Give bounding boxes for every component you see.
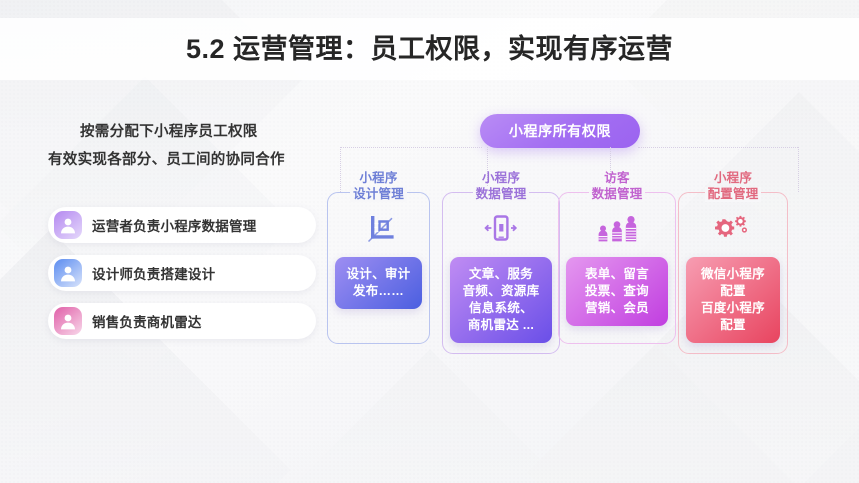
permission-column[interactable]: 小程序设计管理设计、审计发布…… — [327, 192, 430, 344]
role-list: 运营者负责小程序数据管理设计师负责搭建设计销售负责商机雷达 — [48, 207, 316, 351]
lead-line-1: 按需分配下小程序员工权限 — [48, 118, 328, 146]
root-permission-label: 小程序所有权限 — [509, 121, 611, 141]
permission-column-body-line: 商机雷达 ... — [454, 317, 548, 334]
permission-column[interactable]: 访客数据管理表单、留言投票、查询营销、会员 — [558, 192, 676, 344]
user-avatar-icon — [54, 211, 82, 239]
connector-line-horizontal-right — [638, 147, 798, 148]
lead-line-2: 有效实现各部分、员工间的协同合作 — [48, 146, 328, 174]
role-item-label: 设计师负责搭建设计 — [92, 263, 215, 283]
permission-column-header: 小程序设计管理 — [328, 171, 429, 202]
permission-column-body-line: 配置 — [690, 283, 776, 300]
permission-column-body[interactable]: 设计、审计发布…… — [335, 257, 422, 309]
permission-column-header-line: 数据管理 — [473, 187, 530, 202]
permission-column-body-line: 发布…… — [339, 283, 418, 300]
permission-column[interactable]: 小程序配置管理微信小程序配置百度小程序配置 — [678, 192, 788, 354]
role-item-label: 运营者负责小程序数据管理 — [92, 215, 256, 235]
slide-canvas: 5.2 运营管理：员工权限，实现有序运营 按需分配下小程序员工权限 有效实现各部… — [0, 0, 859, 483]
permission-column-body[interactable]: 微信小程序配置百度小程序配置 — [686, 257, 780, 343]
permission-column-header-line: 数据管理 — [589, 187, 646, 202]
permission-column-body-line: 文章、服务 — [454, 266, 548, 283]
root-permission-pill[interactable]: 小程序所有权限 — [480, 114, 640, 148]
permission-column-header-line: 小程序 — [328, 171, 429, 186]
permission-column-header-line: 设计管理 — [350, 187, 407, 202]
permission-column[interactable]: 小程序数据管理文章、服务音频、资源库信息系统、商机雷达 ... — [442, 192, 560, 354]
role-item-label: 销售负责商机雷达 — [92, 311, 202, 331]
permission-column-body-line: 信息系统、 — [454, 300, 548, 317]
permission-column-body[interactable]: 文章、服务音频、资源库信息系统、商机雷达 ... — [450, 257, 552, 343]
permission-column-header-line: 小程序 — [443, 171, 559, 186]
permission-column-body-line: 百度小程序 — [690, 300, 776, 317]
page-title: 5.2 运营管理：员工权限，实现有序运营 — [0, 20, 859, 78]
connector-line-vertical — [798, 147, 799, 192]
permission-column-frame: 小程序配置管理微信小程序配置百度小程序配置 — [678, 192, 788, 354]
user-avatar-icon — [54, 307, 82, 335]
permission-column-header: 访客数据管理 — [559, 171, 675, 202]
permission-column-body-line: 配置 — [690, 317, 776, 334]
role-item[interactable]: 销售负责商机雷达 — [48, 303, 316, 339]
permission-column-body[interactable]: 表单、留言投票、查询营销、会员 — [566, 257, 668, 326]
permission-column-header-line: 小程序 — [679, 171, 787, 186]
visitor-group-icon — [566, 209, 668, 249]
connector-line-horizontal-left — [340, 147, 482, 148]
permission-column-body-line: 微信小程序 — [690, 266, 776, 283]
permission-diagram: 小程序所有权限 小程序设计管理设计、审计发布……小程序数据管理文章、服务音频、资… — [325, 105, 835, 375]
permission-column-frame: 小程序数据管理文章、服务音频、资源库信息系统、商机雷达 ... — [442, 192, 560, 354]
lead-text-block: 按需分配下小程序员工权限 有效实现各部分、员工间的协同合作 — [48, 118, 328, 174]
permission-column-header: 小程序数据管理 — [443, 171, 559, 202]
permission-column-body-line: 音频、资源库 — [454, 283, 548, 300]
role-item[interactable]: 运营者负责小程序数据管理 — [48, 207, 316, 243]
design-ruler-icon — [335, 209, 422, 249]
permission-column-body-line: 设计、审计 — [339, 266, 418, 283]
permission-column-body-line: 营销、会员 — [570, 300, 664, 317]
permission-column-body-line: 投票、查询 — [570, 283, 664, 300]
gear-settings-icon — [686, 209, 780, 249]
permission-column-frame: 访客数据管理表单、留言投票、查询营销、会员 — [558, 192, 676, 344]
mobile-phone-icon — [450, 209, 552, 249]
permission-column-header-line: 访客 — [559, 171, 675, 186]
permission-column-header: 小程序配置管理 — [679, 171, 787, 202]
role-item[interactable]: 设计师负责搭建设计 — [48, 255, 316, 291]
permission-column-body-line: 表单、留言 — [570, 266, 664, 283]
user-avatar-icon — [54, 259, 82, 287]
permission-column-header-line: 配置管理 — [705, 187, 762, 202]
permission-column-frame: 小程序设计管理设计、审计发布…… — [327, 192, 430, 344]
